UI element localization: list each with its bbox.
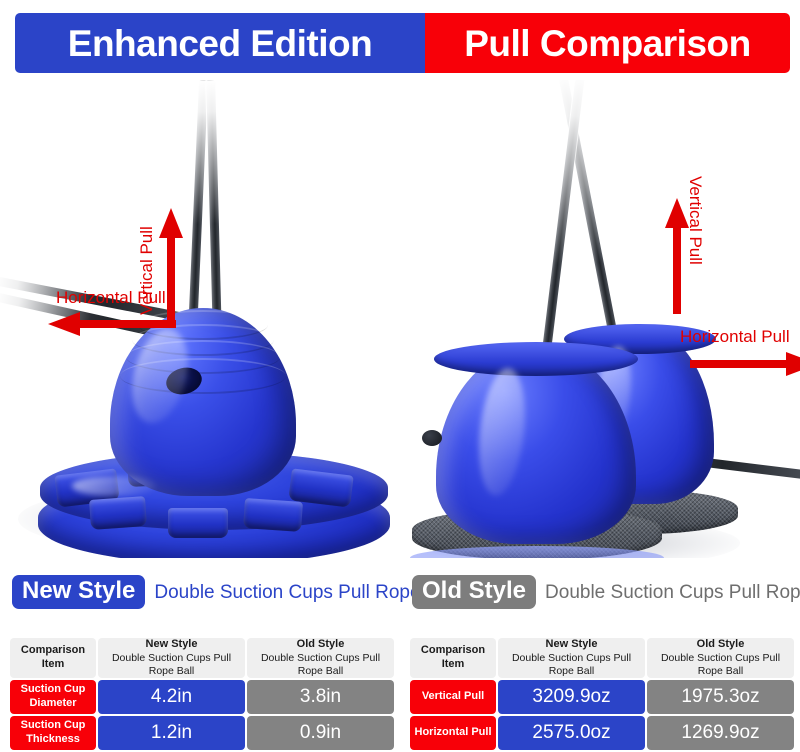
cell-old-vertical-pull: 1975.3oz	[647, 680, 794, 714]
header-item-line1: Comparison	[21, 644, 85, 656]
header-comparison-item: Comparison Item	[10, 638, 96, 678]
header-new-title: New Style	[546, 638, 598, 650]
header-banner-left: Enhanced Edition	[15, 13, 425, 73]
header-old-sub: Double Suction Cups Pull Rope Ball	[247, 652, 394, 678]
header-new-title: New Style	[146, 638, 198, 650]
table-header-row: Comparison Item New Style Double Suction…	[410, 638, 794, 678]
header-banner: Enhanced Edition Pull Comparison	[15, 13, 790, 73]
row-label-line2: Diameter	[29, 697, 76, 709]
base-foot-4	[243, 498, 303, 532]
header-old-style: Old Style Double Suction Cups Pull Rope …	[647, 638, 794, 678]
header-old-title: Old Style	[297, 638, 345, 650]
old-bell-knob	[422, 430, 442, 446]
cell-new-vertical-pull: 3209.9oz	[498, 680, 645, 714]
header-comparison-item: Comparison Item	[410, 638, 496, 678]
horizontal-pull-arrow-left	[48, 312, 176, 336]
row-label-suction-cup-diameter: Suction Cup Diameter	[10, 680, 96, 714]
table-row: Suction Cup Diameter 4.2in 3.8in	[10, 680, 394, 714]
new-style-label-row: New Style Double Suction Cups Pull Rope …	[12, 572, 458, 612]
old-bell-lip-front	[434, 342, 638, 376]
header-item-line2: Item	[42, 658, 65, 670]
horizontal-pull-label-left: Horizontal Pull	[56, 289, 166, 306]
header-item-line2: Item	[442, 658, 465, 670]
cell-new-diameter: 4.2in	[98, 680, 245, 714]
vertical-pull-arrow-right	[664, 198, 690, 314]
header-banner-right: Pull Comparison	[425, 13, 790, 73]
horizontal-pull-label-right: Horizontal Pull	[680, 328, 790, 345]
header-right-title: Pull Comparison	[464, 25, 750, 62]
header-new-style: New Style Double Suction Cups Pull Rope …	[98, 638, 245, 678]
new-style-product-photo: Vertical Pull Horizontal Pull	[0, 80, 400, 558]
header-old-style: Old Style Double Suction Cups Pull Rope …	[247, 638, 394, 678]
row-label-line2: Thickness	[26, 733, 80, 745]
base-foot-3	[168, 508, 228, 538]
header-new-style: New Style Double Suction Cups Pull Rope …	[498, 638, 645, 678]
row-label-line1: Suction Cup	[21, 683, 86, 695]
row-label-line1: Suction Cup	[21, 719, 86, 731]
header-new-sub: Double Suction Cups Pull Rope Ball	[498, 652, 645, 678]
old-style-product-photo: Vertical Pull Horizontal Pull	[400, 80, 800, 558]
old-style-badge: Old Style	[412, 575, 536, 608]
table-row: Vertical Pull 3209.9oz 1975.3oz	[410, 680, 794, 714]
cell-old-diameter: 3.8in	[247, 680, 394, 714]
horizontal-pull-arrow-right	[690, 352, 800, 376]
old-style-label-row: Old Style Double Suction Cups Pull Rope …	[412, 572, 800, 612]
old-style-caption: Double Suction Cups Pull Rope Ball	[545, 583, 800, 602]
header-left-title: Enhanced Edition	[68, 25, 372, 62]
header-new-sub: Double Suction Cups Pull Rope Ball	[98, 652, 245, 678]
flange-highlight	[72, 476, 156, 496]
dimension-comparison-table: Comparison Item New Style Double Suction…	[8, 636, 396, 752]
table-header-row: Comparison Item New Style Double Suction…	[10, 638, 394, 678]
header-old-sub: Double Suction Cups Pull Rope Ball	[647, 652, 794, 678]
header-item-line1: Comparison	[421, 644, 485, 656]
product-image-stage: Vertical Pull Horizontal Pull	[0, 80, 800, 558]
base-foot-2	[89, 496, 147, 530]
header-old-title: Old Style	[697, 638, 745, 650]
new-style-badge: New Style	[12, 575, 145, 608]
row-label-vertical-pull: Vertical Pull	[410, 680, 496, 714]
pull-force-comparison-table: Comparison Item New Style Double Suction…	[408, 636, 796, 752]
